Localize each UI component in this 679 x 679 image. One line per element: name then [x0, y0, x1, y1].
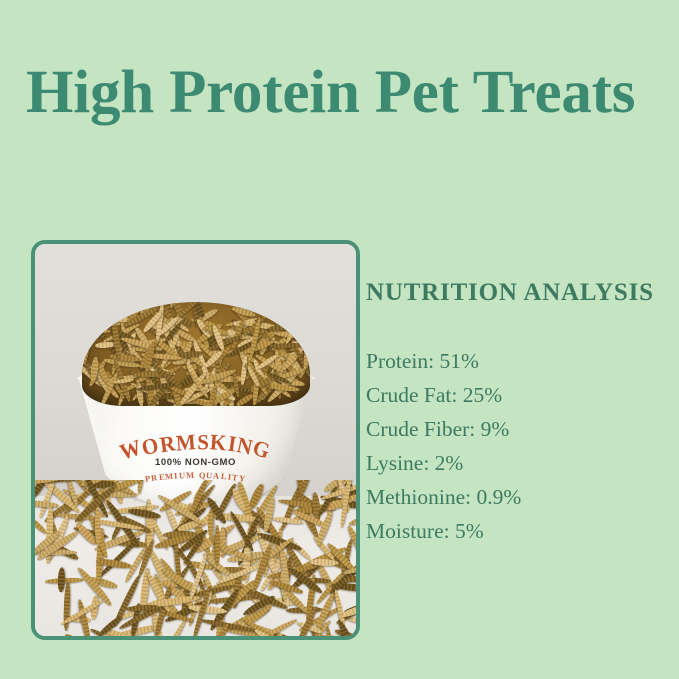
- nutrition-analysis-heading: NUTRITION ANALYSIS: [366, 279, 666, 307]
- mealworm: [45, 577, 84, 584]
- mealworm: [281, 632, 313, 636]
- nutrition-row: Moisture: 5%: [366, 514, 666, 548]
- product-photo-canvas: WORMSKING 100% NON-GMO PREMIUM QUALITY: [35, 244, 356, 636]
- nutrition-row: Lysine: 2%: [366, 446, 666, 480]
- mealworm: [348, 511, 356, 527]
- mealworm: [208, 509, 214, 538]
- product-poster: High Protein Pet Treats WORMSKING 100% N…: [0, 0, 679, 679]
- nutrition-row: Crude Fiber: 9%: [366, 412, 666, 446]
- page-title: High Protein Pet Treats: [26, 58, 666, 128]
- nutrition-analysis-list: Protein: 51%Crude Fat: 25%Crude Fiber: 9…: [366, 344, 666, 548]
- scattered-mealworms: [35, 480, 356, 636]
- nutrition-row: Protein: 51%: [366, 344, 666, 378]
- mealworm: [35, 499, 59, 508]
- nutrition-row: Methionine: 0.9%: [366, 480, 666, 514]
- product-photo: WORMSKING 100% NON-GMO PREMIUM QUALITY: [31, 240, 360, 640]
- nutrition-row: Crude Fat: 25%: [366, 378, 666, 412]
